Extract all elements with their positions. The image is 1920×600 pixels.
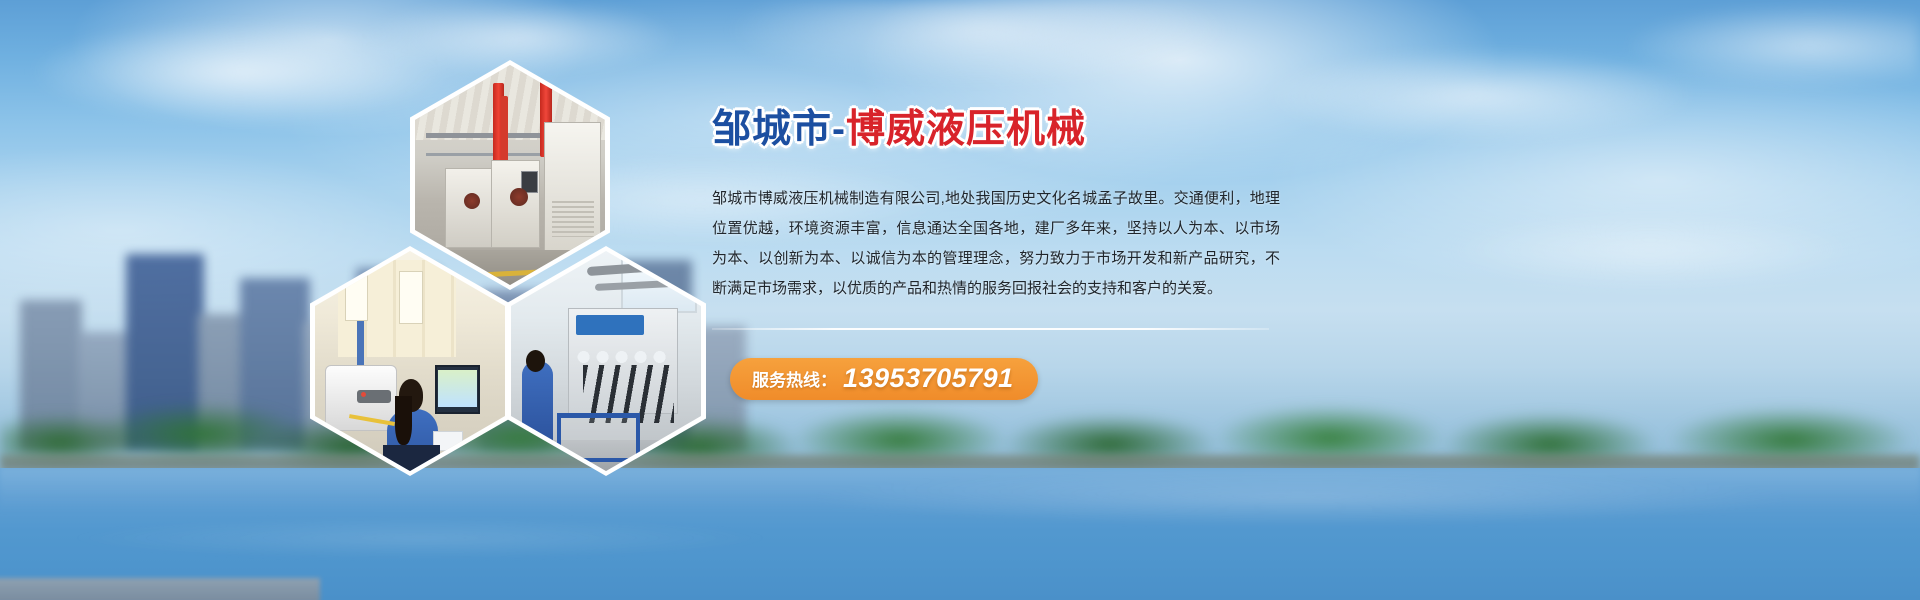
- quay-edge: [0, 578, 320, 600]
- company-headline: 邹城市-博威液压机械: [712, 108, 1292, 153]
- company-description: 邹城市博威液压机械制造有限公司,地处我国历史文化名城孟子故里。交通便利，地理位置…: [712, 184, 1280, 304]
- hexagon-photo-cluster: [310, 60, 710, 440]
- company-hero-banner: 邹城市-博威液压机械 邹城市博威液压机械制造有限公司,地处我国历史文化名城孟子故…: [0, 0, 1920, 600]
- hotline-label: 服务热线：: [752, 366, 837, 391]
- photo-hexagon-machine-shop: [410, 60, 610, 290]
- headline-brand: 博威液压机械: [846, 108, 1086, 151]
- content-divider: [712, 328, 1269, 330]
- banner-content: 邹城市-博威液压机械 邹城市博威液压机械制造有限公司,地处我国历史文化名城孟子故…: [712, 108, 1292, 400]
- headline-city: 邹城市-: [712, 108, 846, 151]
- hotline-phone-number[interactable]: 13953705791: [843, 363, 1014, 394]
- service-hotline-badge[interactable]: 服务热线： 13953705791: [730, 358, 1038, 400]
